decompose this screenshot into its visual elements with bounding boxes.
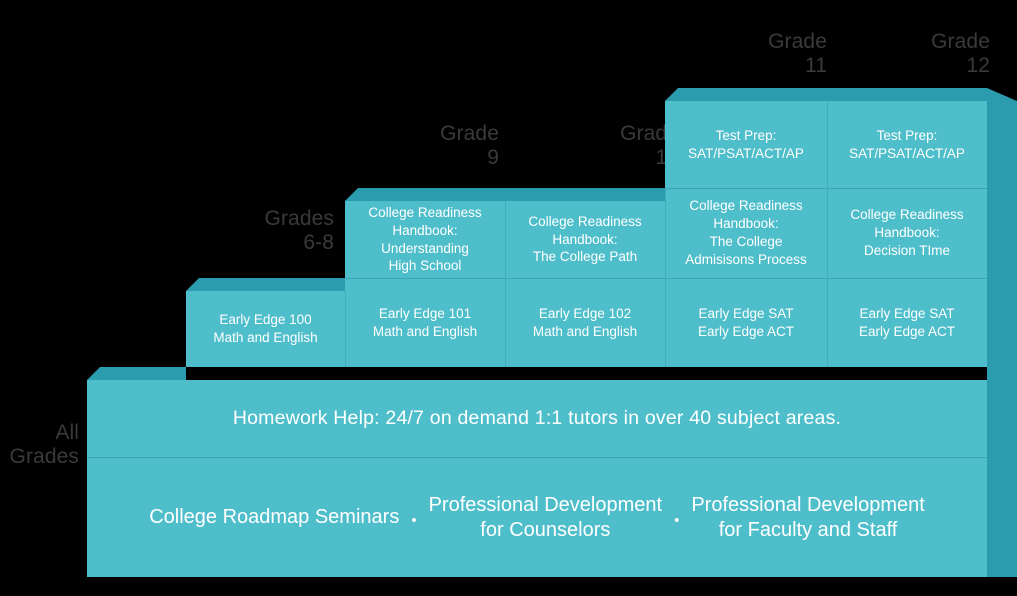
cell-handbook-grade-10: College Readiness Handbook: The College … bbox=[505, 201, 665, 278]
column-separator bbox=[505, 201, 506, 278]
grade-label-grade-9: Grade 9 bbox=[369, 122, 499, 169]
column-separator bbox=[665, 188, 666, 278]
bullet-separator-icon: • bbox=[399, 513, 428, 528]
cell-test-prep-grade-11: Test Prep: SAT/PSAT/ACT/AP bbox=[665, 101, 827, 188]
column-separator bbox=[665, 278, 666, 367]
step-right-bevel bbox=[987, 88, 1017, 188]
bullet-separator-icon: • bbox=[662, 513, 691, 528]
cell-handbook-grade-9: College Readiness Handbook: Understandin… bbox=[345, 201, 505, 278]
cell-early-edge-grade-9: Early Edge 101 Math and English bbox=[345, 278, 505, 367]
cell-handbook-grade-11: College Readiness Handbook: The College … bbox=[665, 188, 827, 278]
cell-early-edge-grade-10: Early Edge 102 Math and English bbox=[505, 278, 665, 367]
step-right-bevel bbox=[987, 188, 1017, 278]
pd-item-faculty-and-staff: Professional Development for Faculty and… bbox=[691, 493, 924, 542]
cell-early-edge-grade-11: Early Edge SAT Early Edge ACT bbox=[665, 278, 827, 367]
column-separator bbox=[345, 291, 346, 367]
pd-item-counselors: Professional Development for Counselors bbox=[429, 493, 662, 542]
banner-homework-help: Homework Help: 24/7 on demand 1:1 tutors… bbox=[87, 380, 987, 457]
step-top-bevel bbox=[345, 188, 665, 201]
grade-label-grade-12: Grade 12 bbox=[860, 30, 990, 77]
homework-help-text: Homework Help: 24/7 on demand 1:1 tutors… bbox=[233, 407, 841, 430]
step-top-bevel bbox=[665, 88, 987, 101]
row-separator bbox=[345, 278, 987, 279]
cell-early-edge-grade-12: Early Edge SAT Early Edge ACT bbox=[827, 278, 987, 367]
step-right-bevel bbox=[987, 367, 1017, 577]
step-top-bevel bbox=[87, 367, 186, 380]
grade-label-grade-10: Grade 10 bbox=[549, 122, 679, 169]
step-right-bevel bbox=[987, 278, 1017, 367]
pd-item-college-roadmap-seminars: College Roadmap Seminars bbox=[149, 505, 399, 529]
grade-label-grades-6-8: Grades 6-8 bbox=[204, 207, 334, 254]
grade-label-all-grades: All Grades bbox=[0, 421, 79, 468]
step-top-bevel bbox=[186, 278, 346, 291]
column-separator bbox=[505, 278, 506, 367]
professional-development-row: College Roadmap Seminars • Professional … bbox=[87, 493, 987, 542]
column-separator bbox=[827, 188, 828, 278]
column-separator bbox=[827, 278, 828, 367]
row-separator bbox=[665, 188, 987, 189]
grade-label-grade-11: Grade 11 bbox=[697, 30, 827, 77]
cell-early-edge-grades-6-8: Early Edge 100 Math and English bbox=[186, 291, 345, 367]
staircase-diagram: Grades 6-8 Grade 9 Grade 10 Grade 11 Gra… bbox=[0, 0, 1017, 596]
cell-handbook-grade-12: College Readiness Handbook: Decision TIm… bbox=[827, 188, 987, 278]
column-separator bbox=[827, 101, 828, 188]
cell-test-prep-grade-12: Test Prep: SAT/PSAT/ACT/AP bbox=[827, 101, 987, 188]
banner-professional-development: College Roadmap Seminars • Professional … bbox=[87, 458, 987, 577]
